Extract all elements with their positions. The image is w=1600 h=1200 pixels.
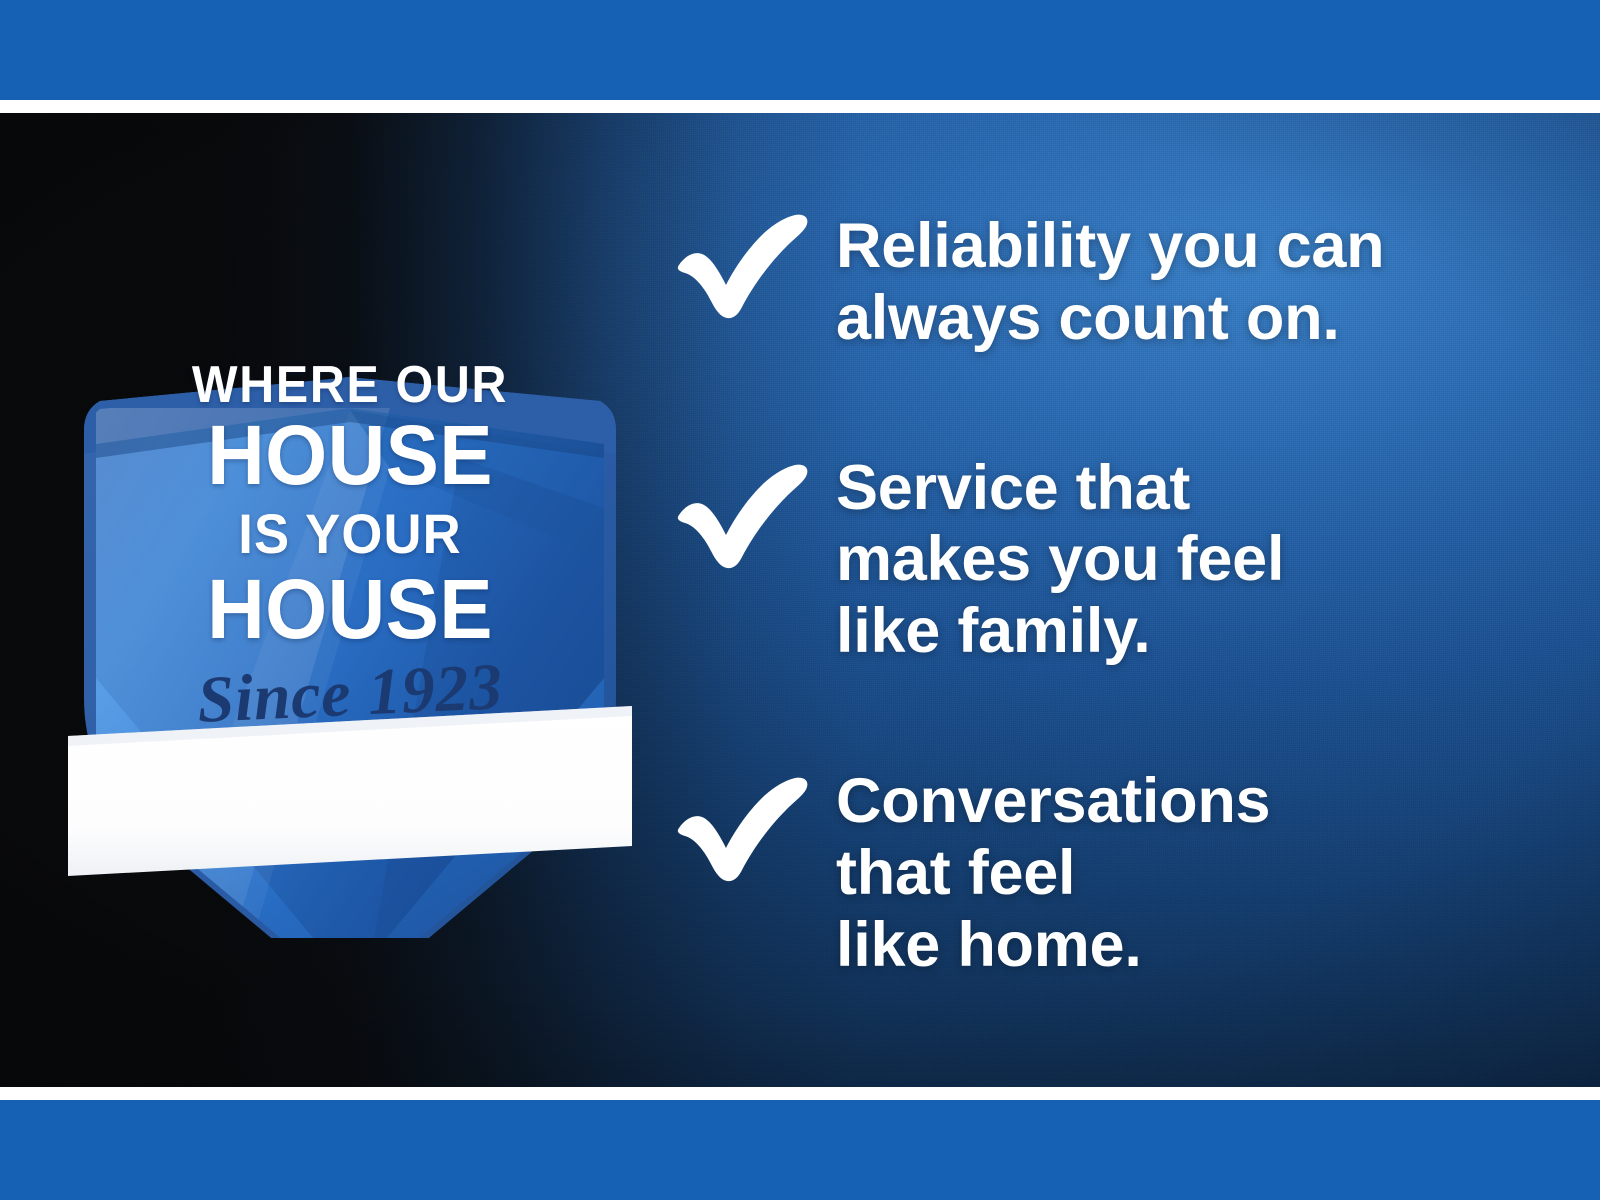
main-stage: WHERE OUR HOUSE IS YOUR HOUSE Since 1923…	[0, 113, 1600, 1087]
checkmark-icon	[676, 463, 812, 571]
benefit-line: Service that	[836, 453, 1284, 525]
benefits-list: Reliability you can always count on. Ser…	[676, 211, 1516, 982]
benefit-item-reliability: Reliability you can always count on.	[676, 211, 1516, 355]
promo-graphic: WHERE OUR HOUSE IS YOUR HOUSE Since 1923…	[0, 0, 1600, 1200]
benefit-line: always count on.	[836, 283, 1384, 355]
checkmark-icon	[676, 213, 812, 321]
checkmark-icon	[676, 776, 812, 884]
benefit-line: like family.	[836, 596, 1284, 668]
benefit-item-service: Service that makes you feel like family.	[676, 453, 1516, 668]
shield-line-where-our: WHERE OUR	[80, 359, 619, 411]
benefit-item-conversations: Conversations that feel like home.	[676, 766, 1516, 981]
benefit-text-conversations: Conversations that feel like home.	[836, 766, 1270, 981]
shield-line-is-your: IS YOUR	[77, 506, 622, 562]
shield-logo: WHERE OUR HOUSE IS YOUR HOUSE Since 1923	[60, 258, 640, 938]
bottom-brand-rule	[0, 1087, 1600, 1100]
top-brand-bar	[0, 0, 1600, 100]
benefit-line: Conversations	[836, 766, 1270, 838]
benefit-text-service: Service that makes you feel like family.	[836, 453, 1284, 668]
benefit-text-reliability: Reliability you can always count on.	[836, 211, 1384, 355]
top-brand-rule	[0, 100, 1600, 113]
benefit-line: Reliability you can	[836, 211, 1384, 283]
benefit-line: like home.	[836, 910, 1270, 982]
shield-line-house-2: HOUSE	[75, 567, 626, 651]
shield-line-house-1: HOUSE	[75, 413, 626, 497]
benefit-line: makes you feel	[836, 524, 1284, 596]
benefit-line: that feel	[836, 838, 1270, 910]
bottom-brand-bar	[0, 1100, 1600, 1200]
